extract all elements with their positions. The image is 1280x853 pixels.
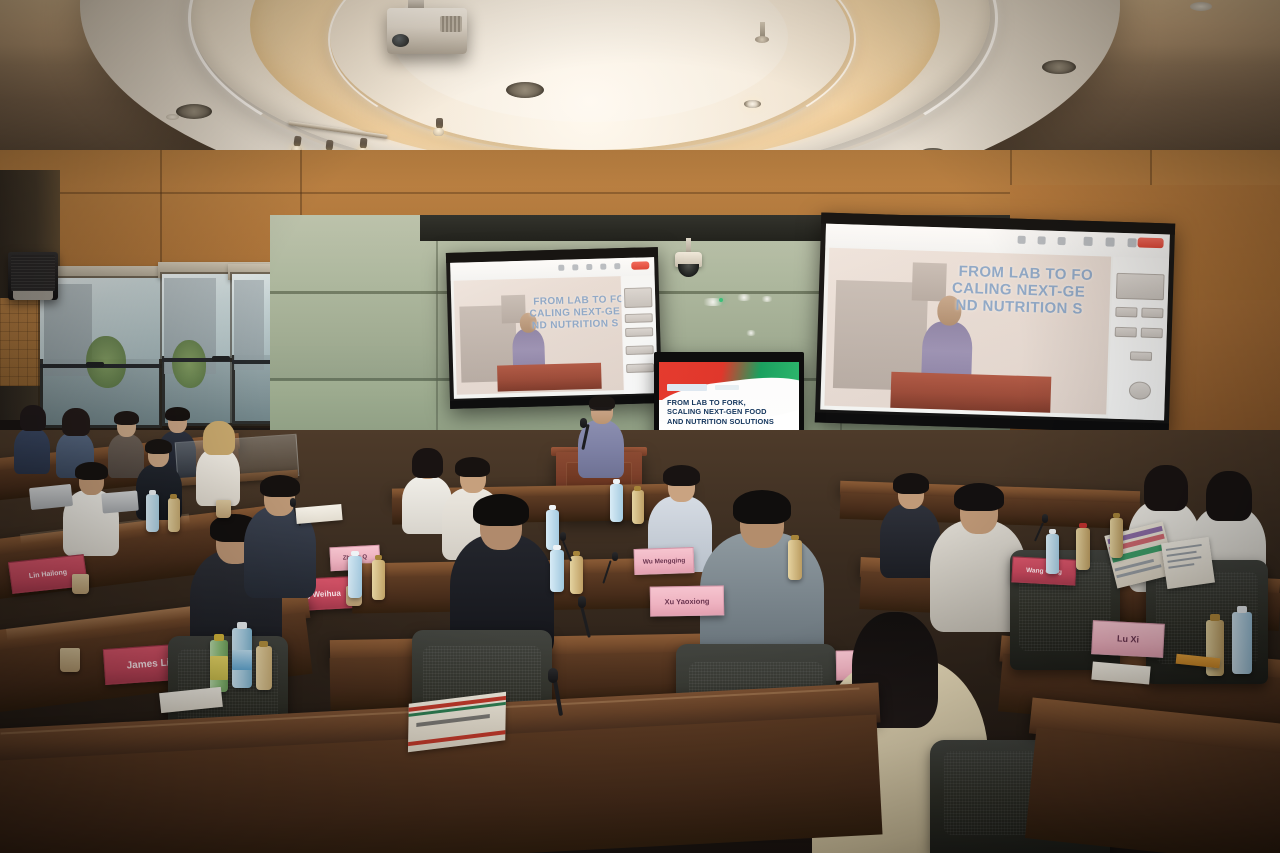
- podium-microphone: [580, 418, 587, 428]
- nameplate-wu-mengqing: Wu Mengqing: [634, 547, 695, 575]
- water-bottle-3: [348, 556, 362, 598]
- wall-glint-3: [760, 296, 774, 302]
- downlight-1: [176, 104, 212, 119]
- slide-logo-badge: [667, 384, 707, 391]
- table-microphone-4: [548, 668, 558, 683]
- sprinkler-head: [755, 36, 769, 43]
- water-bottle-4: [546, 510, 559, 550]
- paper-cup-1: [60, 648, 80, 672]
- drink-bottle-7: [788, 540, 802, 580]
- projector-lens: [392, 34, 409, 47]
- downlight-7: [1042, 60, 1076, 74]
- wall-speaker-left: [8, 252, 58, 300]
- projector-vent: [440, 16, 462, 32]
- drink-bottle-9: [1110, 518, 1123, 558]
- slide-logo-badge-secondary: [715, 385, 739, 390]
- drink-bottle-1: [210, 640, 228, 692]
- water-bottle-2: [146, 494, 159, 532]
- right-projection-screen: FROM LAB TO FO CALING NEXT-GE ND NUTRITI…: [815, 212, 1175, 433]
- water-bottle-1: [232, 628, 252, 688]
- water-bottle-5: [550, 550, 564, 592]
- drink-bottle-2: [256, 646, 272, 690]
- status-led-green: [719, 298, 723, 302]
- drink-bottle-4: [372, 560, 385, 600]
- table-microphone-6: [290, 498, 296, 507]
- water-bottle-8: [1232, 612, 1252, 674]
- nameplate-wang-gang: Wang Gang: [1011, 556, 1076, 585]
- nameplate-xu-yaoxiong: Xu Yaoxiong: [650, 585, 725, 616]
- end-meeting-button-right-screen[interactable]: [1137, 237, 1163, 248]
- end-meeting-button-left-screen[interactable]: [631, 261, 649, 269]
- smoke-detector-1: [166, 114, 179, 120]
- table-microphone-2: [612, 552, 618, 561]
- table-microphone-5: [1042, 514, 1048, 523]
- nameplate-lu-xi: Lu Xi: [1091, 620, 1165, 658]
- conference-room-photo: 会议室 FROM LAB TO FO CALING NEXT-GE ND NUT…: [0, 0, 1280, 853]
- slide-title: FROM LAB TO FORK, SCALING NEXT-GEN FOOD …: [667, 398, 774, 426]
- paper-cup-2: [216, 500, 231, 518]
- laptop-2[interactable]: [101, 490, 139, 513]
- drink-bottle-8: [1076, 528, 1090, 570]
- slide-title-line2: SCALING NEXT-GEN FOOD: [667, 407, 774, 416]
- drink-bottle-6: [632, 490, 644, 524]
- laptop-1[interactable]: [29, 484, 73, 510]
- paper-cup-3: [72, 574, 89, 594]
- slide-title-line1: FROM LAB TO FORK,: [667, 398, 774, 407]
- downlight-10: [744, 100, 761, 108]
- smoke-detector-2: [1190, 2, 1212, 11]
- downlight-3: [506, 82, 544, 98]
- window-left-1: [40, 278, 162, 428]
- presenter-glasses: [590, 407, 612, 411]
- table-microphone-1: [560, 532, 566, 541]
- slide-title-line3: AND NUTRITION SOLUTIONS: [667, 417, 774, 426]
- drink-bottle-3: [168, 498, 180, 532]
- track-spot-head-4: [433, 128, 444, 136]
- drink-bottle-5: [570, 556, 583, 594]
- water-bottle-7: [1046, 534, 1059, 574]
- front-wall-dark-header: [420, 215, 860, 241]
- table-microphone-3: [578, 596, 586, 608]
- left-projection-screen: FROM LAB TO FO CALING NEXT-GE ND NUTRITI…: [446, 247, 662, 409]
- water-bottle-6: [610, 484, 623, 522]
- wall-glint-4: [745, 330, 757, 336]
- document-page-1: [1161, 537, 1215, 589]
- wall-glint-2: [735, 294, 753, 301]
